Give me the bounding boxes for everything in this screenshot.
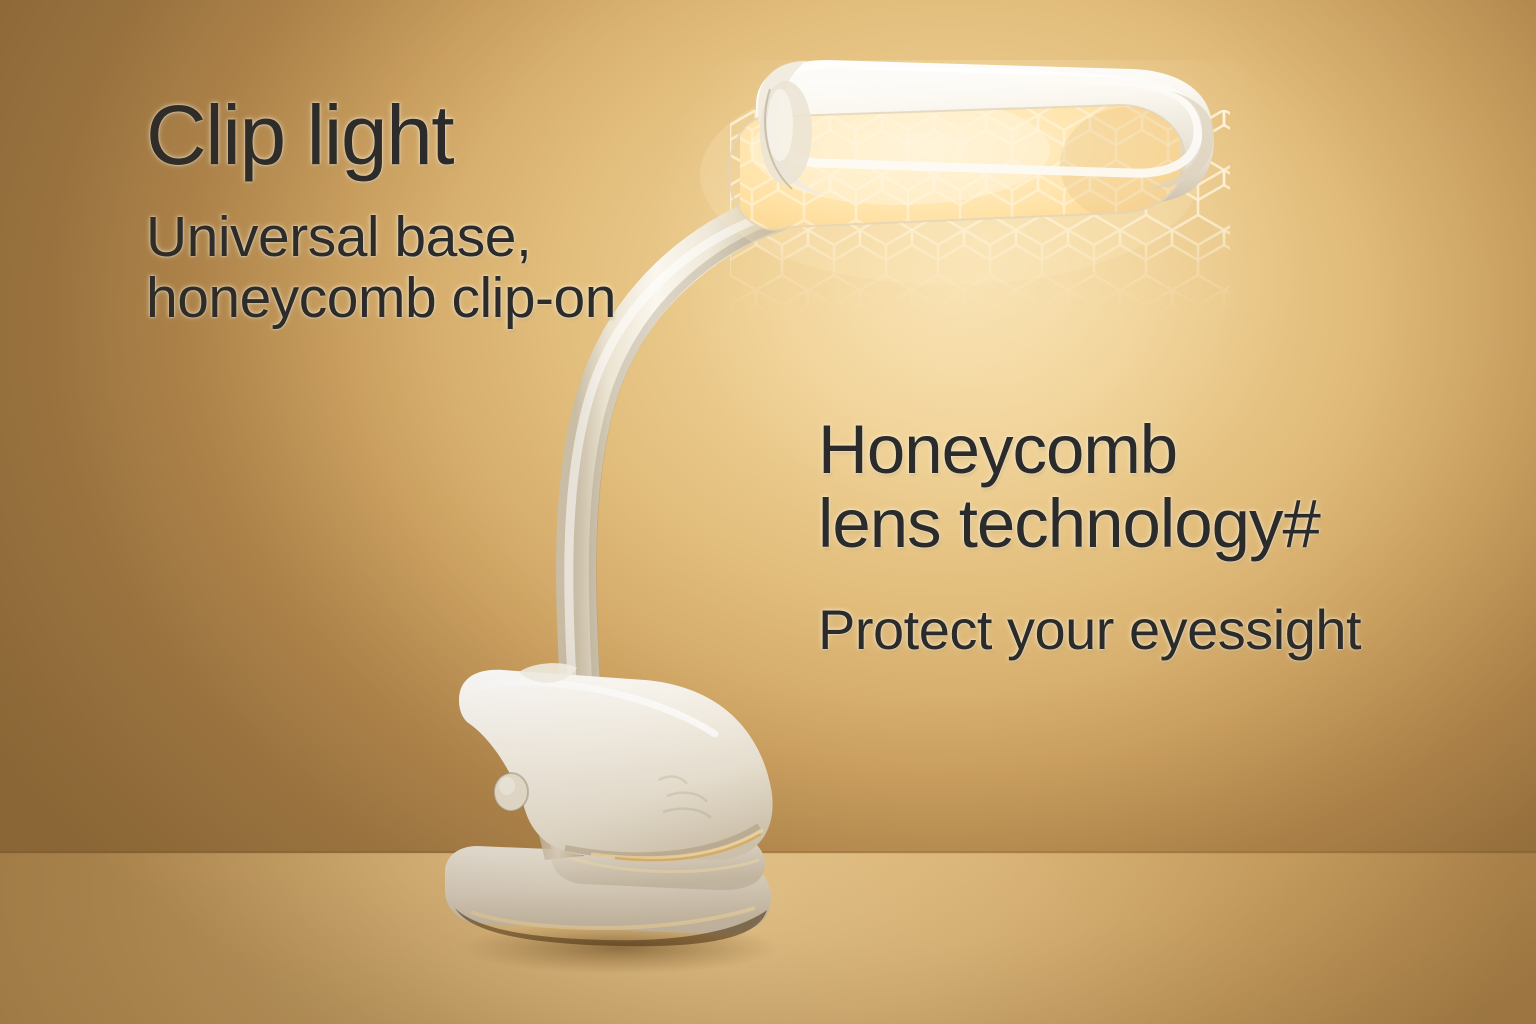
page-title: Clip light <box>146 91 453 179</box>
clip-base-assembly <box>415 660 815 980</box>
product-advertisement-image: Clip light Universal base, honeycomb cli… <box>0 0 1536 1024</box>
feature-headline-line-1: Honeycomb <box>818 413 1177 487</box>
power-button[interactable] <box>494 773 528 811</box>
feature-subtext: Protect your eyessight <box>818 600 1361 660</box>
clip-base-svg <box>415 660 815 980</box>
lamp-head-svg <box>700 55 1260 285</box>
lamp-head <box>700 55 1260 285</box>
subtitle-line-2: honeycomb clip-on <box>146 268 616 329</box>
feature-headline-line-2: lens technology# <box>818 487 1320 561</box>
subtitle-line-1: Universal base, <box>146 207 531 268</box>
